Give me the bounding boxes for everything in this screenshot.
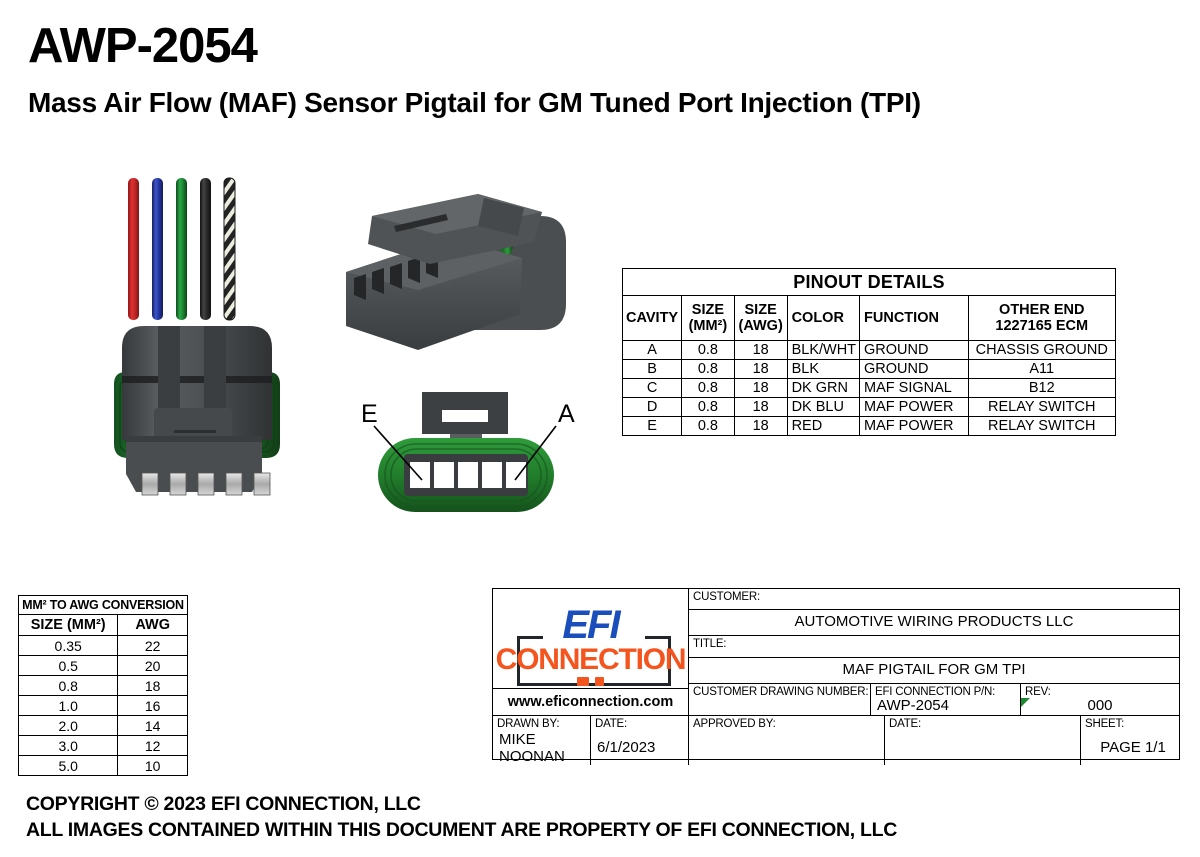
copyright-footer: COPYRIGHT © 2023 EFI CONNECTION, LLC ALL… <box>26 792 897 843</box>
drawn-date-label: DATE: <box>591 716 688 731</box>
revision-value: 000 <box>1087 698 1112 715</box>
pinout-cell-function: MAF SIGNAL <box>860 379 968 398</box>
pigtail-connector-illustration <box>96 168 346 518</box>
pinout-table-row: B0.818BLKGROUNDA11 <box>623 360 1116 379</box>
pinout-table-row: A0.818BLK/WHTGROUNDCHASSIS GROUND <box>623 341 1116 360</box>
pinout-cell-size-awg: 18 <box>734 341 787 360</box>
wire-black <box>200 178 211 320</box>
pinout-cell-size-mm: 0.8 <box>682 379 735 398</box>
customer-drawing-number-label: CUSTOMER DRAWING NUMBER: <box>689 684 870 699</box>
drawn-by-cell: DRAWN BY: MIKE NOONAN <box>493 716 591 765</box>
copyright-line-1: COPYRIGHT © 2023 EFI CONNECTION, LLC <box>26 792 897 818</box>
pinout-cell-cavity: C <box>623 379 682 398</box>
pinout-cell-color: BLK/WHT <box>787 341 859 360</box>
pinout-cell-other-end: CHASSIS GROUND <box>968 341 1116 360</box>
title-value-cell: MAF PIGTAIL FOR GM TPI <box>689 658 1179 684</box>
drawn-by-label: DRAWN BY: <box>493 716 590 731</box>
pinout-cell-size-awg: 18 <box>734 379 787 398</box>
awg-cell-awg: 20 <box>118 656 188 676</box>
awg-table-row: 3.012 <box>19 736 188 756</box>
title-label: TITLE: <box>689 636 1179 651</box>
pinout-header-size-awg-line1: SIZE <box>738 302 784 318</box>
efi-part-number-cell: EFI CONNECTION P/N: AWP-2054 <box>871 684 1021 715</box>
drawn-by-value: MIKE NOONAN <box>493 731 590 765</box>
logo-graphic: EFI CONNECTION <box>493 589 688 688</box>
revision-cell: REV: 000 <box>1021 684 1179 715</box>
sheet-value: PAGE 1/1 <box>1081 731 1179 765</box>
awg-table-row: 5.010 <box>19 756 188 776</box>
pinout-cell-size-mm: 0.8 <box>682 341 735 360</box>
approved-by-label: APPROVED BY: <box>689 716 884 731</box>
sheet-cell: SHEET: PAGE 1/1 <box>1081 716 1179 765</box>
awg-cell-awg: 16 <box>118 696 188 716</box>
awg-cell-awg: 14 <box>118 716 188 736</box>
pinout-cell-function: GROUND <box>860 360 968 379</box>
awg-table-row: 0.520 <box>19 656 188 676</box>
pinout-cell-cavity: E <box>623 417 682 436</box>
pinout-cell-color: BLK <box>787 360 859 379</box>
pinout-cell-size-mm: 0.8 <box>682 417 735 436</box>
efi-part-number-label: EFI CONNECTION P/N: <box>871 684 1020 699</box>
pinout-cell-color: DK GRN <box>787 379 859 398</box>
wire-black-white <box>224 178 235 320</box>
customer-label: CUSTOMER: <box>689 589 1179 604</box>
pinout-cell-function: MAF POWER <box>860 398 968 417</box>
pinout-header-other-end-line1: OTHER END <box>972 302 1113 318</box>
pinout-cell-color: RED <box>787 417 859 436</box>
front-cavities <box>410 462 526 488</box>
approved-date-label: DATE: <box>885 716 1080 731</box>
awg-cell-awg: 12 <box>118 736 188 756</box>
pinout-header-size-mm-line1: SIZE <box>685 302 731 318</box>
pinout-cell-cavity: A <box>623 341 682 360</box>
approved-by-value <box>689 731 884 765</box>
pinout-cell-color: DK BLU <box>787 398 859 417</box>
page-subtitle: Mass Air Flow (MAF) Sensor Pigtail for G… <box>28 88 921 119</box>
front-label-e: E <box>361 400 378 428</box>
pinout-cell-size-mm: 0.8 <box>682 360 735 379</box>
revision-label: REV: <box>1021 684 1179 699</box>
pinout-table-title: PINOUT DETAILS <box>623 269 1116 296</box>
pinout-header-function: FUNCTION <box>860 296 968 341</box>
awg-table-row: 0.818 <box>19 676 188 696</box>
pinout-header-color: COLOR <box>787 296 859 341</box>
pinout-table-row: C0.818DK GRNMAF SIGNALB12 <box>623 379 1116 398</box>
pinout-header-cavity: CAVITY <box>623 296 682 341</box>
awg-cell-size: 0.5 <box>19 656 118 676</box>
awg-header-awg: AWG <box>118 615 188 636</box>
pinout-header-size-mm: SIZE (MM²) <box>682 296 735 341</box>
title-value: MAF PIGTAIL FOR GM TPI <box>689 658 1179 679</box>
customer-drawing-number-value <box>689 698 870 715</box>
latch-bar <box>154 408 232 438</box>
pinout-header-size-awg: SIZE (AWG) <box>734 296 787 341</box>
awg-table-row: 2.014 <box>19 716 188 736</box>
pinout-cell-cavity: B <box>623 360 682 379</box>
pinout-cell-size-awg: 18 <box>734 360 787 379</box>
pinout-cell-other-end: A11 <box>968 360 1116 379</box>
revision-marker-triangle <box>1021 698 1030 707</box>
pinout-header-other-end-line2: 1227165 ECM <box>972 318 1113 334</box>
connector-front-view-illustration: E A <box>352 382 602 522</box>
awg-cell-awg: 22 <box>118 636 188 656</box>
mm2-to-awg-conversion-table: MM² TO AWG CONVERSION SIZE (MM²) AWG 0.3… <box>18 595 188 776</box>
drawn-date-value: 6/1/2023 <box>591 731 688 765</box>
title-label-cell: TITLE: <box>689 636 1179 657</box>
connector-isometric-illustration <box>332 186 602 376</box>
approved-date-cell: DATE: <box>885 716 1081 765</box>
pinout-cell-other-end: RELAY SWITCH <box>968 417 1116 436</box>
approved-date-value <box>885 731 1080 765</box>
awg-cell-size: 0.35 <box>19 636 118 656</box>
front-label-a: A <box>558 400 575 428</box>
awg-table-title: MM² TO AWG CONVERSION <box>19 596 188 615</box>
customer-value-cell: AUTOMOTIVE WIRING PRODUCTS LLC <box>689 610 1179 636</box>
efi-connection-logo: EFI CONNECTION www.eficonnection.com <box>493 589 689 715</box>
wire-red <box>128 178 139 320</box>
awg-cell-size: 1.0 <box>19 696 118 716</box>
pinout-table-row: E0.818REDMAF POWERRELAY SWITCH <box>623 417 1116 436</box>
logo-efi-text: EFI <box>493 605 688 645</box>
drawn-date-cell: DATE: 6/1/2023 <box>591 716 689 765</box>
pinout-header-other-end: OTHER END 1227165 ECM <box>968 296 1116 341</box>
pinout-cell-size-awg: 18 <box>734 417 787 436</box>
pinout-header-size-mm-line2: (MM²) <box>685 318 731 334</box>
pinout-table-row: D0.818DK BLUMAF POWERRELAY SWITCH <box>623 398 1116 417</box>
logo-website: www.eficonnection.com <box>493 688 688 715</box>
pinout-header-size-awg-line2: (AWG) <box>738 318 784 334</box>
pinout-cell-other-end: RELAY SWITCH <box>968 398 1116 417</box>
pinout-cell-function: MAF POWER <box>860 417 968 436</box>
logo-connector-icon-right <box>595 677 604 686</box>
customer-label-cell: CUSTOMER: <box>689 589 1179 610</box>
pinout-details-table: PINOUT DETAILS CAVITY SIZE (MM²) SIZE (A… <box>622 268 1116 436</box>
pinout-cell-function: GROUND <box>860 341 968 360</box>
logo-connection-text: CONNECTION <box>493 645 688 675</box>
sheet-label: SHEET: <box>1081 716 1179 731</box>
customer-value: AUTOMOTIVE WIRING PRODUCTS LLC <box>689 610 1179 631</box>
pinout-cell-cavity: D <box>623 398 682 417</box>
logo-connector-icon-left <box>577 677 589 686</box>
awg-header-size: SIZE (MM²) <box>19 615 118 636</box>
awg-cell-size: 5.0 <box>19 756 118 776</box>
awg-table-row: 0.3522 <box>19 636 188 656</box>
awg-cell-size: 3.0 <box>19 736 118 756</box>
awg-cell-size: 2.0 <box>19 716 118 736</box>
awg-cell-size: 0.8 <box>19 676 118 696</box>
awg-table-row: 1.016 <box>19 696 188 716</box>
approved-by-cell: APPROVED BY: <box>689 716 885 765</box>
wire-blue <box>152 178 163 320</box>
wire-green <box>176 178 187 320</box>
customer-drawing-number-cell: CUSTOMER DRAWING NUMBER: <box>689 684 871 715</box>
title-block: EFI CONNECTION www.eficonnection.com CUS… <box>492 588 1180 760</box>
awg-cell-awg: 10 <box>118 756 188 776</box>
copyright-line-2: ALL IMAGES CONTAINED WITHIN THIS DOCUMEN… <box>26 818 897 844</box>
pinout-cell-other-end: B12 <box>968 379 1116 398</box>
pinout-cell-size-awg: 18 <box>734 398 787 417</box>
awg-cell-awg: 18 <box>118 676 188 696</box>
pinout-cell-size-mm: 0.8 <box>682 398 735 417</box>
efi-part-number-value: AWP-2054 <box>871 698 1020 715</box>
page-title: AWP-2054 <box>28 22 257 71</box>
